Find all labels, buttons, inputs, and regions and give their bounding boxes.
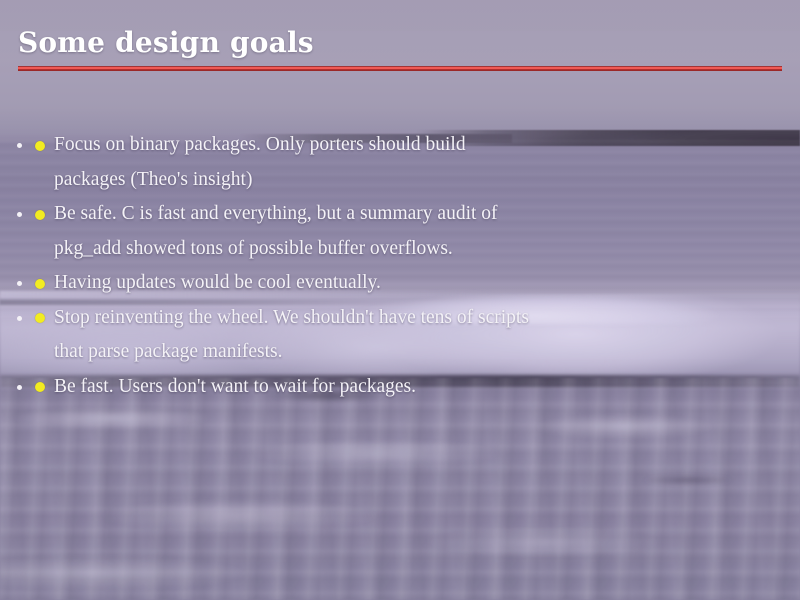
- list-item: Be safe. C is fast and everything, but a…: [34, 197, 772, 266]
- slide-title: Some design goals: [18, 26, 314, 60]
- bullet-text: Be fast. Users don't want to wait for pa…: [54, 370, 772, 405]
- bullet-dot-icon: [35, 382, 45, 392]
- bullet-list: Focus on binary packages. Only porters s…: [34, 128, 772, 404]
- bullet-dot-icon: [35, 210, 45, 220]
- list-item: Focus on binary packages. Only porters s…: [34, 128, 772, 197]
- list-item: Having updates would be cool eventually.: [34, 266, 772, 301]
- title-underline-rule: [18, 66, 782, 71]
- bullet-dot-icon: [35, 279, 45, 289]
- bullet-dot-icon: [35, 313, 45, 323]
- list-item: Be fast. Users don't want to wait for pa…: [34, 370, 772, 405]
- bullet-text: Having updates would be cool eventually.: [54, 266, 772, 301]
- presentation-slide: Some design goals Focus on binary packag…: [0, 0, 800, 600]
- bullet-dot-icon: [35, 141, 45, 151]
- slide-content: Some design goals Focus on binary packag…: [0, 0, 800, 600]
- bullet-text: Be safe. C is fast and everything, but a…: [54, 197, 772, 266]
- list-item: Stop reinventing the wheel. We shouldn't…: [34, 301, 772, 370]
- bullet-text: Stop reinventing the wheel. We shouldn't…: [54, 301, 772, 370]
- bullet-text: Focus on binary packages. Only porters s…: [54, 128, 772, 197]
